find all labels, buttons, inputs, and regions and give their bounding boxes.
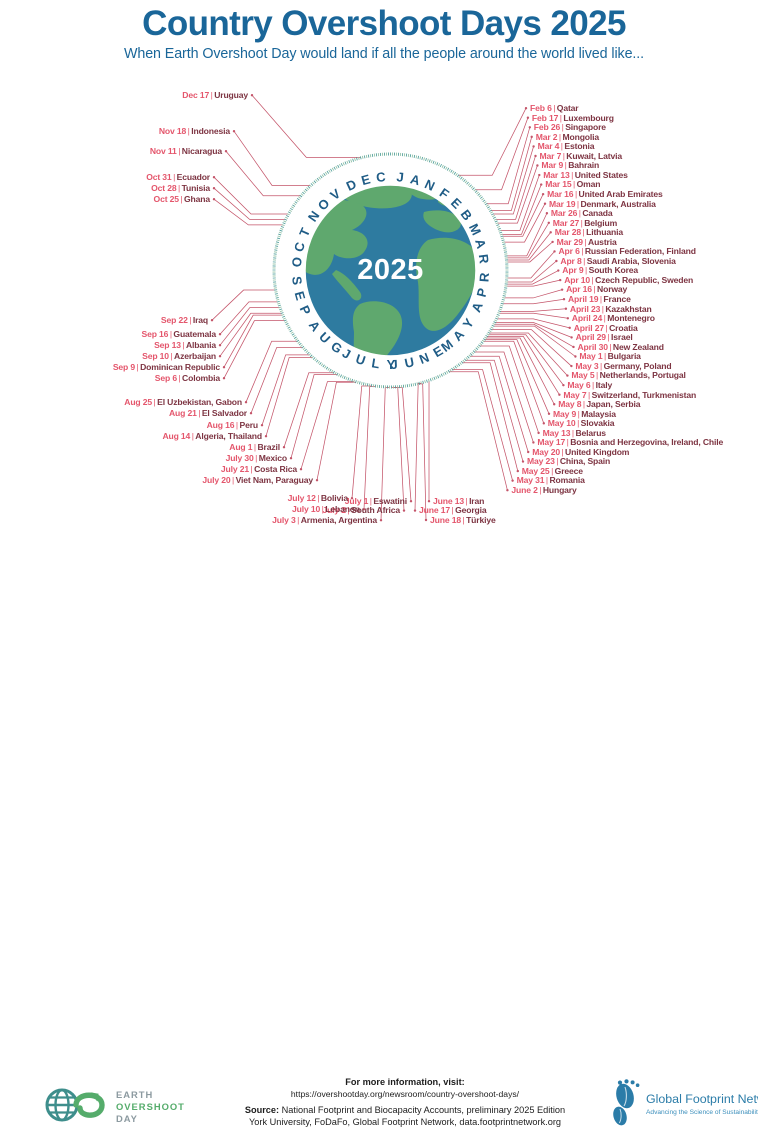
more-info-label: For more information, visit: [210, 1076, 600, 1088]
label-countries: Qatar [557, 103, 579, 113]
leader-dot [219, 355, 221, 357]
label-date: April 19 [568, 294, 598, 304]
label-date: Mar 4 [538, 141, 560, 151]
country-label: July 30|Mexico [226, 454, 287, 463]
leader-dot [506, 489, 508, 491]
label-date: July 3 [272, 515, 295, 525]
label-date: Aug 16 [207, 420, 235, 430]
leader-dot [548, 222, 550, 224]
source-label: Source: [245, 1105, 279, 1115]
label-countries: Israel [611, 332, 633, 342]
earth-overshoot-day-logo: EARTH OVERSHOOT DAY [40, 1084, 200, 1126]
country-label: July 20|Viet Nam, Paraguay [202, 476, 313, 485]
refresh-arrow-icon [76, 1092, 102, 1115]
label-date: Mar 26 [551, 208, 577, 218]
label-date: May 25 [522, 466, 550, 476]
label-countries: Lithuania [586, 227, 623, 237]
leader-dot [555, 260, 557, 262]
country-label: June 2|Hungary [511, 486, 576, 495]
leader-dot [563, 298, 565, 300]
label-date: April 29 [576, 332, 606, 342]
label-countries: Azerbaijan [174, 351, 216, 361]
country-label: Aug 16|Peru [207, 421, 258, 430]
leader-dot [570, 365, 572, 367]
svg-text:U: U [403, 354, 415, 371]
label-date: May 10 [548, 418, 576, 428]
label-countries: Kuwait, Latvia [566, 151, 622, 161]
label-date: May 20 [532, 447, 560, 457]
label-date: April 27 [574, 323, 604, 333]
leader-dot [534, 155, 536, 157]
source-line-2: York University, FoDaFo, Global Footprin… [210, 1116, 600, 1128]
leader-dot [213, 187, 215, 189]
label-date: April 23 [570, 304, 600, 314]
label-date: May 31 [517, 475, 545, 485]
label-countries: Algeria, Thailand [195, 431, 262, 441]
leader-dot [540, 183, 542, 185]
label-countries: United Arab Emirates [579, 189, 663, 199]
leader-dot [223, 366, 225, 368]
label-date: Mar 27 [553, 218, 579, 228]
country-label: Aug 25|El Uzbekistan, Gabon [124, 398, 242, 407]
label-countries: United States [575, 170, 628, 180]
label-countries: Norway [597, 284, 627, 294]
label-date: Feb 17 [532, 113, 558, 123]
label-date: Sep 9 [113, 362, 135, 372]
country-label: Oct 25|Ghana [154, 195, 210, 204]
label-countries: Oman [577, 179, 601, 189]
label-countries: China, Spain [560, 456, 610, 466]
label-countries: Singapore [565, 122, 606, 132]
leader-dot [538, 174, 540, 176]
country-label: Oct 31|Ecuador [146, 173, 210, 182]
label-date: April 24 [572, 313, 602, 323]
leader-dot [561, 288, 563, 290]
label-countries: Colombia [182, 373, 220, 383]
label-date: Sep 10 [142, 351, 169, 361]
label-countries: Bahrain [568, 160, 599, 170]
globe-icon [47, 1090, 77, 1120]
gfn-tagline: Advancing the Science of Sustainability [646, 1109, 758, 1116]
leader-dot [283, 446, 285, 448]
label-countries: Belgium [584, 218, 617, 228]
leader-dot [572, 346, 574, 348]
label-countries: Switzerland, Turkmenistan [592, 390, 697, 400]
label-countries: Hungary [543, 485, 577, 495]
leader-dot [557, 269, 559, 271]
leader-dot [567, 317, 569, 319]
leader-dot [570, 336, 572, 338]
leader-dot [225, 150, 227, 152]
leader-dot [532, 441, 534, 443]
leader-dot [261, 424, 263, 426]
label-date: Apr 16 [566, 284, 592, 294]
source-line-1: Source: National Footprint and Biocapaci… [210, 1104, 600, 1116]
svg-text:Y: Y [387, 357, 396, 372]
label-countries: Nicaragua [182, 146, 222, 156]
gfn-name: Global Footprint Network [646, 1092, 758, 1106]
label-countries: Montenegro [607, 313, 655, 323]
label-countries: Denmark, Australia [580, 199, 655, 209]
label-date: Oct 31 [146, 172, 171, 182]
label-date: Sep 13 [154, 340, 181, 350]
label-countries: Czech Republic, Sweden [595, 275, 693, 285]
leader-dot [410, 500, 412, 502]
leader-dot [428, 500, 430, 502]
leader-dot [565, 308, 567, 310]
label-date: May 8 [558, 399, 581, 409]
leader-dot [536, 164, 538, 166]
label-date: Mar 19 [549, 199, 575, 209]
global-footprint-network-logo: Global Footprint Network Advancing the S… [608, 1079, 758, 1129]
leader-dot [566, 374, 568, 376]
label-date: Aug 21 [169, 408, 197, 418]
label-countries: Bosnia and Herzegovina, Ireland, Chile [570, 437, 723, 447]
label-countries: Slovakia [581, 418, 615, 428]
label-countries: Austria [588, 237, 617, 247]
label-countries: El Salvador [202, 408, 247, 418]
label-date: May 1 [579, 351, 602, 361]
leader-dot [511, 479, 513, 481]
label-countries: Armenia, Argentina [301, 515, 377, 525]
label-date: May 3 [575, 361, 598, 371]
leader-dot [425, 519, 427, 521]
label-countries: Germany, Poland [604, 361, 672, 371]
label-date: July 20 [202, 475, 230, 485]
infographic-canvas: Country Overshoot Days 2025 When Earth O… [0, 0, 768, 598]
label-date: May 7 [563, 390, 586, 400]
footprint-icon [611, 1079, 639, 1127]
leader-dot [543, 422, 545, 424]
globe-dial: JANFEBMARAPRMAYJUNEJULYAUGSEPOCTNOVDEC [248, 128, 533, 413]
label-countries: Italy [596, 380, 612, 390]
leader-dot [522, 460, 524, 462]
label-date: July 21 [221, 464, 249, 474]
source-text-1: National Footprint and Biocapacity Accou… [282, 1105, 565, 1115]
label-countries: Mexico [259, 453, 287, 463]
leader-dot [233, 130, 235, 132]
eod-logo-line1: EARTH [116, 1089, 153, 1100]
label-countries: Romania [549, 475, 584, 485]
label-countries: Dominican Republic [140, 362, 220, 372]
leader-dot [553, 403, 555, 405]
label-countries: El Uzbekistan, Gabon [157, 397, 242, 407]
label-date: Apr 8 [560, 256, 581, 266]
leader-dot [525, 107, 527, 109]
label-date: July 30 [226, 453, 254, 463]
label-date: May 9 [553, 409, 576, 419]
page-title: Country Overshoot Days 2025 [0, 4, 768, 44]
label-countries: Kazakhstan [605, 304, 651, 314]
leader-dot [569, 327, 571, 329]
label-date: May 5 [571, 370, 594, 380]
label-date: Aug 1 [229, 442, 252, 452]
label-countries: United Kingdom [565, 447, 629, 457]
leader-dot [548, 413, 550, 415]
label-countries: Greece [555, 466, 583, 476]
label-countries: Saudi Arabia, Slovenia [587, 256, 676, 266]
leader-dot [403, 509, 405, 511]
label-countries: Bulgaria [608, 351, 641, 361]
leader-dot [517, 470, 519, 472]
source-url[interactable]: https://overshootday.org/newsroom/countr… [210, 1088, 600, 1100]
label-date: Oct 25 [154, 194, 179, 204]
footer: EARTH OVERSHOOT DAY For more information… [0, 536, 768, 598]
leader-dot [265, 435, 267, 437]
label-countries: Russian Federation, Finland [585, 246, 696, 256]
label-date: April 30 [578, 342, 608, 352]
country-label: Sep 9|Dominican Republic [113, 363, 220, 372]
label-countries: Brazil [257, 442, 280, 452]
label-date: Mar 15 [545, 179, 571, 189]
source-block: For more information, visit: https://ove… [210, 1076, 600, 1129]
svg-text:O: O [289, 256, 305, 267]
label-date: Apr 10 [564, 275, 590, 285]
leader-dot [550, 231, 552, 233]
label-countries: Guatemala [173, 329, 216, 339]
svg-text:J: J [396, 169, 405, 185]
label-date: May 17 [537, 437, 565, 447]
country-label: June 18|Türkiye [430, 516, 496, 525]
label-countries: Iraq [193, 315, 208, 325]
label-date: Aug 25 [124, 397, 152, 407]
leader-dot [290, 457, 292, 459]
label-countries: Malaysia [581, 409, 616, 419]
label-countries: Estonia [564, 141, 594, 151]
country-label: July 3|Armenia, Argentina [272, 516, 377, 525]
label-date: July 12 [288, 493, 316, 503]
page-subtitle: When Earth Overshoot Day would land if a… [0, 46, 768, 62]
leader-dot [219, 333, 221, 335]
label-countries: Indonesia [191, 126, 230, 136]
label-date: June 18 [430, 515, 461, 525]
label-countries: Bolivia [321, 493, 348, 503]
country-label: Aug 21|El Salvador [169, 409, 247, 418]
leader-dot [558, 394, 560, 396]
svg-text:R: R [476, 271, 492, 282]
label-countries: Albania [186, 340, 216, 350]
label-countries: Uruguay [214, 90, 248, 100]
country-label: Sep 6|Colombia [155, 374, 220, 383]
leader-dot [300, 468, 302, 470]
leader-dot [562, 384, 564, 386]
label-date: Mar 2 [536, 132, 558, 142]
leader-dot [316, 479, 318, 481]
label-countries: Croatia [609, 323, 638, 333]
label-countries: Costa Rica [254, 464, 297, 474]
leader-dot [219, 344, 221, 346]
label-countries: Peru [239, 420, 258, 430]
leader-dot [211, 319, 213, 321]
label-countries: France [603, 294, 630, 304]
label-date: Oct 28 [151, 183, 176, 193]
leader-dot [414, 509, 416, 511]
label-date: Sep 6 [155, 373, 177, 383]
label-countries: South Korea [589, 265, 638, 275]
country-label: Sep 16|Guatemala [142, 330, 217, 339]
leader-dot [544, 203, 546, 205]
leader-dot [537, 432, 539, 434]
leader-dot [213, 198, 215, 200]
leader-dot [223, 377, 225, 379]
label-date: May 23 [527, 456, 555, 466]
leader-dot [251, 94, 253, 96]
label-date: Dec 17 [182, 90, 209, 100]
country-label: Dec 17|Uruguay [182, 91, 248, 100]
leader-dot [542, 193, 544, 195]
label-countries: Netherlands, Portugal [600, 370, 686, 380]
label-date: Mar 28 [555, 227, 581, 237]
country-label: Aug 1|Brazil [229, 443, 280, 452]
label-date: Sep 22 [161, 315, 188, 325]
label-countries: Japan, Serbia [586, 399, 640, 409]
label-date: Aug 14 [162, 431, 190, 441]
label-date: Mar 29 [557, 237, 583, 247]
leader-dot [213, 176, 215, 178]
country-label: Nov 18|Indonesia [159, 127, 230, 136]
label-date: Sep 16 [142, 329, 169, 339]
country-label: July 21|Costa Rica [221, 465, 297, 474]
country-label: Sep 13|Albania [154, 341, 216, 350]
leader-dot [527, 117, 529, 119]
label-date: Mar 13 [543, 170, 569, 180]
svg-text:S: S [289, 275, 305, 286]
country-label: Aug 14|Algeria, Thailand [162, 432, 262, 441]
globe-svg: JANFEBMARAPRMAYJUNEJULYAUGSEPOCTNOVDEC [248, 128, 533, 413]
label-countries: Ghana [184, 194, 210, 204]
country-label: July 12|Bolivia [288, 494, 348, 503]
label-countries: Türkiye [466, 515, 496, 525]
label-countries: Belarus [575, 428, 605, 438]
label-date: Nov 11 [150, 146, 177, 156]
country-label: July 10|Lebanon [292, 505, 360, 514]
leader-dot [553, 250, 555, 252]
label-countries: Viet Nam, Paraguay [236, 475, 313, 485]
country-label: Oct 28|Tunisia [151, 184, 210, 193]
label-date: Feb 26 [534, 122, 560, 132]
label-date: May 6 [567, 380, 590, 390]
label-countries: Luxembourg [563, 113, 614, 123]
label-date: Apr 6 [559, 246, 580, 256]
country-label: Sep 10|Azerbaijan [142, 352, 216, 361]
label-date: Mar 7 [540, 151, 562, 161]
label-countries: New Zealand [613, 342, 664, 352]
leader-dot [546, 212, 548, 214]
label-date: Apr 9 [562, 265, 583, 275]
label-countries: Ecuador [177, 172, 210, 182]
leader-dot [559, 279, 561, 281]
country-label: Sep 22|Iraq [161, 316, 208, 325]
label-date: Feb 6 [530, 103, 552, 113]
label-countries: Tunisia [182, 183, 210, 193]
label-countries: Canada [582, 208, 612, 218]
label-countries: Lebanon [325, 504, 360, 514]
label-date: Mar 16 [547, 189, 573, 199]
leader-dot [380, 519, 382, 521]
leader-dot [551, 241, 553, 243]
label-countries: Mongolia [562, 132, 599, 142]
country-label: Nov 11|Nicaragua [150, 147, 222, 156]
leader-dot [245, 401, 247, 403]
eod-logo-line2: OVERSHOOT [116, 1101, 185, 1112]
leader-dot [527, 451, 529, 453]
label-date: Nov 18 [159, 126, 186, 136]
label-date: Mar 9 [541, 160, 563, 170]
label-date: May 13 [543, 428, 571, 438]
label-date: July 10 [292, 504, 320, 514]
eod-logo-line3: DAY [116, 1113, 138, 1124]
leader-dot [574, 355, 576, 357]
label-date: June 2 [511, 485, 537, 495]
